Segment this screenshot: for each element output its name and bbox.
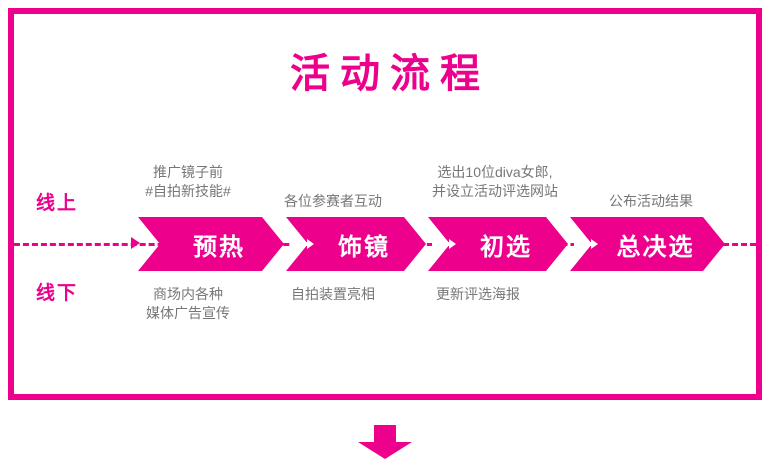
process-step-preheat[interactable]: 预热 xyxy=(138,217,284,271)
step-connector-arrow-icon xyxy=(574,242,592,246)
stage-top-caption: 各位参赛者互动 xyxy=(268,192,398,211)
stage-bottom-caption: 自拍装置亮相 xyxy=(268,285,398,304)
stage-bottom-caption: 商场内各种 媒体广告宣传 xyxy=(118,285,258,323)
step-connector-arrow-icon xyxy=(290,242,308,246)
axis-label-offline: 线下 xyxy=(36,278,116,305)
arrow-head xyxy=(358,442,412,459)
stage-bottom-caption: 更新评选海报 xyxy=(408,285,548,304)
axis-label-online: 线上 xyxy=(36,188,116,215)
stage-top-caption: 公布活动结果 xyxy=(586,192,716,211)
stage-top-caption: 选出10位diva女郎, 并设立活动评选网站 xyxy=(405,163,585,201)
page-title: 活动流程 xyxy=(0,50,770,98)
process-step-label: 预热 xyxy=(193,227,245,262)
arrow-shaft xyxy=(374,425,396,443)
stage-top-caption: 推广镜子前 #自拍新技能# xyxy=(118,163,258,201)
process-step-label: 饰镜 xyxy=(338,227,390,262)
process-step-label: 初选 xyxy=(480,227,532,262)
process-chevron-band: 预热 饰镜 初选 总决选 xyxy=(138,217,718,271)
step-connector-arrow-icon xyxy=(432,242,450,246)
process-step-label: 总决选 xyxy=(617,227,695,262)
scroll-down-arrow-icon[interactable] xyxy=(358,425,412,459)
